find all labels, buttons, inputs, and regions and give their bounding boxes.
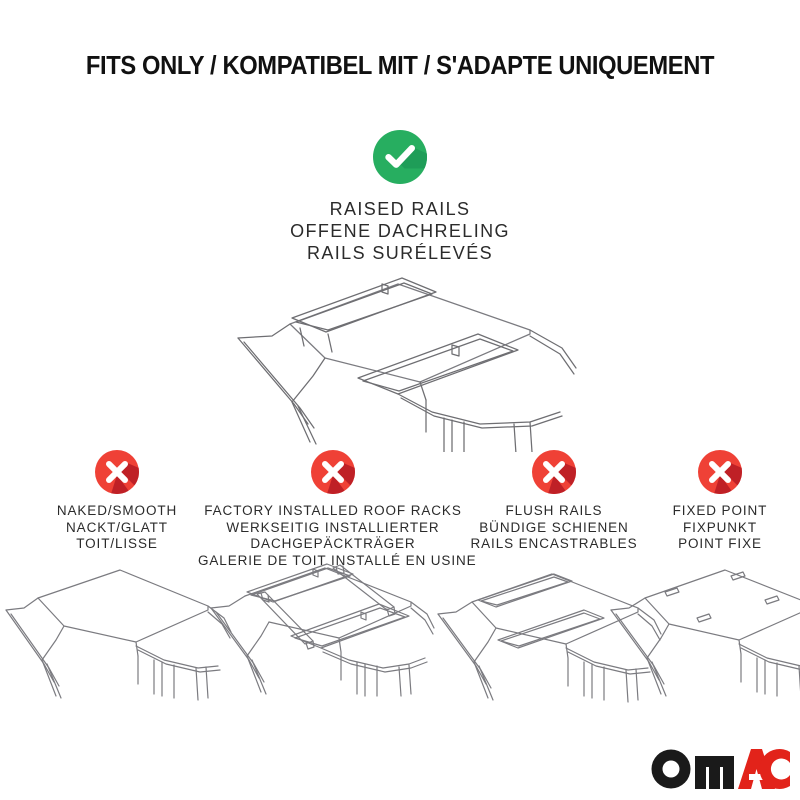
unsupported-label-de: NACKT/GLATT [6,520,228,537]
supported-section: RAISED RAILS OFFENE DACHRELING RAILS SUR… [0,130,800,264]
check-circle-icon [373,130,427,184]
unsupported-item-naked-smooth: NAKED/SMOOTH NACKT/GLATT TOIT/LISSE [6,450,228,553]
unsupported-label-de: BÜNDIGE SCHIENEN [452,520,656,537]
car-roof-naked-smooth-illustration [2,556,232,706]
unsupported-label-de-1: WERKSEITIG INSTALLIERTER [198,520,468,537]
cross-circle-icon [95,450,139,494]
cross-circle-icon [532,450,576,494]
unsupported-label-en: NAKED/SMOOTH [6,503,228,520]
unsupported-labels: NAKED/SMOOTH NACKT/GLATT TOIT/LISSE [6,503,228,553]
car-roof-with-raised-rails-illustration [230,272,580,452]
unsupported-label-fr: POINT FIXE [640,536,800,553]
omac-logo [650,748,790,790]
supported-label-de: OFFENE DACHRELING [0,220,800,242]
supported-label-en: RAISED RAILS [0,198,800,220]
supported-labels: RAISED RAILS OFFENE DACHRELING RAILS SUR… [0,198,800,264]
logo-letter-o [652,750,691,789]
cross-circle-icon [311,450,355,494]
unsupported-label-en: FACTORY INSTALLED ROOF RACKS [198,503,468,520]
logo-letter-m [695,756,734,789]
unsupported-label-fr: TOIT/LISSE [6,536,228,553]
unsupported-labels: FLUSH RAILS BÜNDIGE SCHIENEN RAILS ENCAS… [452,503,656,553]
unsupported-label-en: FLUSH RAILS [452,503,656,520]
car-roof-factory-roof-rack-illustration [205,548,435,698]
supported-label-fr: RAILS SURÉLEVÉS [0,242,800,264]
unsupported-item-flush-rails: FLUSH RAILS BÜNDIGE SCHIENEN RAILS ENCAS… [452,450,656,553]
unsupported-label-en: FIXED POINT [640,503,800,520]
unsupported-label-de: FIXPUNKT [640,520,800,537]
unsupported-label-fr: RAILS ENCASTRABLES [452,536,656,553]
cross-circle-icon [698,450,742,494]
unsupported-item-fixed-point: FIXED POINT FIXPUNKT POINT FIXE [640,450,800,553]
page-title: FITS ONLY / KOMPATIBEL MIT / S'ADAPTE UN… [28,52,772,81]
car-roof-fixed-point-illustration [605,552,800,702]
unsupported-labels: FIXED POINT FIXPUNKT POINT FIXE [640,503,800,553]
